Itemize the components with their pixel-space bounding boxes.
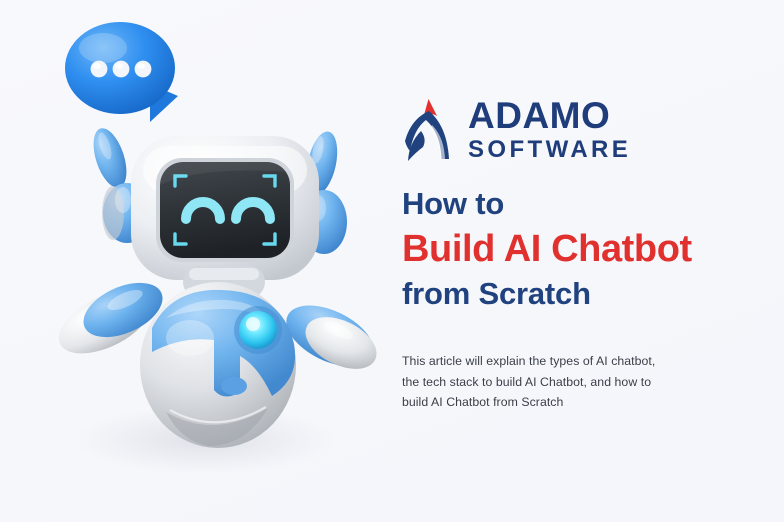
headline-line-2: Build AI Chatbot [402, 226, 777, 272]
brand-name-secondary: SOFTWARE [468, 138, 631, 162]
speech-bubble [65, 22, 178, 122]
page-title: How to Build AI Chatbot from Scratch [402, 186, 777, 313]
robot-foot-accent [221, 377, 247, 395]
headline-line-3: from Scratch [402, 276, 777, 313]
description-line-2: the tech stack to build AI Chatbot, and … [402, 372, 712, 393]
content-column: ADAMO SOFTWARE How to Build AI Chatbot f… [398, 0, 784, 522]
description-text: This article will explain the types of A… [402, 351, 712, 413]
description-line-1: This article will explain the types of A… [402, 351, 712, 372]
robot-head [131, 136, 319, 280]
slide-canvas: ADAMO SOFTWARE How to Build AI Chatbot f… [0, 0, 784, 522]
adamo-arch-logo-icon [401, 95, 457, 163]
robot-antennae-left [87, 124, 133, 192]
brand-name-primary: ADAMO [468, 97, 631, 134]
adamo-software-logo[interactable]: ADAMO SOFTWARE [401, 90, 741, 168]
brand-wordmark: ADAMO SOFTWARE [468, 97, 631, 162]
headline-line-1: How to [402, 186, 777, 222]
robot-illustration [0, 0, 400, 522]
chest-glow [234, 306, 282, 354]
robot-body [140, 282, 296, 448]
typing-dots [91, 61, 152, 78]
description-line-3: build AI Chatbot from Scratch [402, 392, 712, 413]
